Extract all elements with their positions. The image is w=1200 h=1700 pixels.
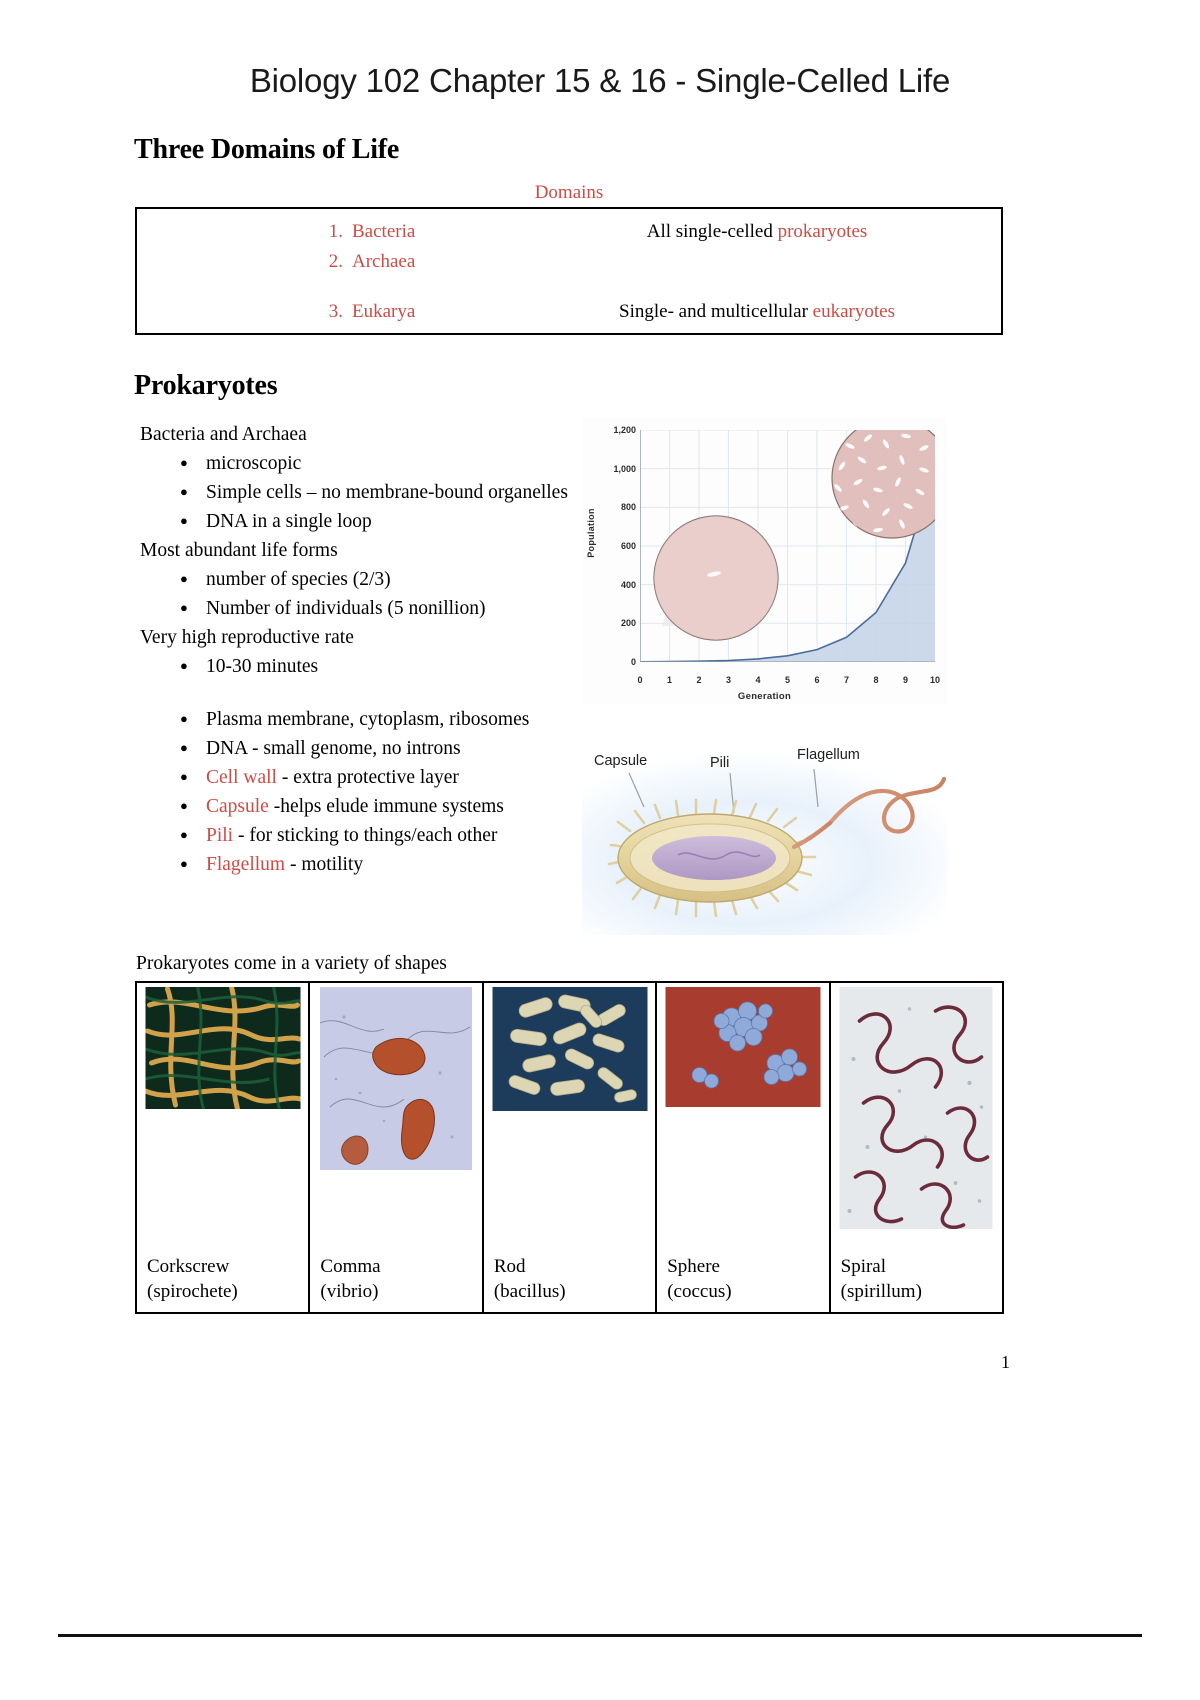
list-item: Number of individuals (5 nonillion) <box>140 594 570 623</box>
chart-x-tick: 3 <box>719 675 739 685</box>
shape-cell-comma: Comma (vibrio) <box>310 983 483 1312</box>
list-item: DNA - small genome, no introns <box>140 734 570 763</box>
chart-y-tick: 200 <box>596 618 636 628</box>
list-item: Pili - for sticking to things/each other <box>140 821 570 850</box>
list-item: microscopic <box>140 449 570 478</box>
domains-table: 1. Bacteria All single-celled prokaryote… <box>135 207 1003 335</box>
notes-subhead: Bacteria and Archaea <box>140 420 570 449</box>
chart-x-axis-label: Generation <box>582 691 947 702</box>
domain-name: Eukarya <box>352 301 415 323</box>
chart-y-ticks: 02004006008001,0001,200 <box>590 418 636 705</box>
domain-number: 1. <box>315 221 343 243</box>
shape-caption-spiral: Spiral (spirillum) <box>841 1254 922 1304</box>
chart-plot-area <box>640 430 935 662</box>
domains-table-caption: Domains <box>134 182 1004 204</box>
chart-y-tick: 1,200 <box>596 425 636 435</box>
chart-inset-high-density <box>832 430 935 538</box>
chart-x-tick: 2 <box>689 675 709 685</box>
chart-x-tick: 1 <box>660 675 680 685</box>
chart-x-tick: 0 <box>630 675 650 685</box>
population-growth-chart: Population 02004006008001,0001,200 <box>582 418 947 705</box>
label-flagellum: Flagellum <box>797 747 860 763</box>
chart-x-tick: 4 <box>748 675 768 685</box>
shape-cell-sphere: Sphere (coccus) <box>657 983 830 1312</box>
domain-name: Archaea <box>352 251 415 273</box>
chart-y-tick: 0 <box>596 657 636 667</box>
shapes-caption: Prokaryotes come in a variety of shapes <box>136 953 447 975</box>
notes-bullet-list: 10-30 minutes <box>140 652 570 681</box>
term-cell-wall: Cell wall <box>206 767 277 788</box>
shape-caption-comma: Comma (vibrio) <box>320 1254 380 1304</box>
micrograph-spirillum <box>840 987 993 1229</box>
chart-y-tick: 600 <box>596 541 636 551</box>
document-page: Biology 102 Chapter 15 & 16 - Single-Cel… <box>0 0 1200 1700</box>
domain-description: Single- and multicellular eukaryotes <box>522 301 992 323</box>
list-item: Plasma membrane, cytoplasm, ribosomes <box>140 705 570 734</box>
chart-x-tick: 9 <box>896 675 916 685</box>
micrograph-spirochete <box>145 987 300 1109</box>
chart-x-tick: 6 <box>807 675 827 685</box>
micrograph-vibrio <box>320 987 472 1170</box>
list-item: Simple cells – no membrane-bound organel… <box>140 478 570 507</box>
domain-name: Bacteria <box>352 221 415 243</box>
label-pili: Pili <box>710 755 729 771</box>
domain-description: All single-celled prokaryotes <box>522 221 992 243</box>
page-title: Biology 102 Chapter 15 & 16 - Single-Cel… <box>0 62 1200 100</box>
shape-caption-sphere: Sphere (coccus) <box>667 1254 731 1304</box>
domain-number: 2. <box>315 251 343 273</box>
shape-cell-corkscrew: Corkscrew (spirochete) <box>137 983 310 1312</box>
chart-y-tick: 800 <box>596 502 636 512</box>
footer-divider <box>58 1634 1142 1637</box>
prokaryotes-notes: Bacteria and Archaea microscopic Simple … <box>140 420 570 879</box>
chart-x-ticks: 012345678910 <box>582 675 947 687</box>
micrograph-coccus <box>665 987 820 1107</box>
list-item: Flagellum - motility <box>140 850 570 879</box>
label-capsule: Capsule <box>594 753 647 769</box>
chart-y-tick: 400 <box>596 580 636 590</box>
chart-x-tick: 5 <box>778 675 798 685</box>
notes-bullet-list: number of species (2/3) Number of indivi… <box>140 565 570 623</box>
bacterium-diagram: Capsule Pili Flagellum <box>582 735 947 935</box>
shape-caption-rod: Rod (bacillus) <box>494 1254 566 1304</box>
micrograph-bacillus <box>492 987 647 1111</box>
list-item: DNA in a single loop <box>140 507 570 536</box>
term-pili: Pili <box>206 825 233 846</box>
notes-bullet-list-structures: Plasma membrane, cytoplasm, ribosomes DN… <box>140 705 570 879</box>
list-item: Cell wall - extra protective layer <box>140 763 570 792</box>
table-row: 1. Bacteria All single-celled prokaryote… <box>137 221 1001 251</box>
list-item: Capsule -helps elude immune systems <box>140 792 570 821</box>
shape-cell-spiral: Spiral (spirillum) <box>831 983 1002 1312</box>
notes-spacer <box>140 681 570 705</box>
term-flagellum: Flagellum <box>206 854 285 875</box>
notes-subhead: Very high reproductive rate <box>140 623 570 652</box>
list-item: number of species (2/3) <box>140 565 570 594</box>
chart-y-tick: 1,000 <box>596 464 636 474</box>
chart-x-tick: 10 <box>925 675 945 685</box>
table-row: 2. Archaea <box>137 251 1001 281</box>
table-row: 3. Eukarya Single- and multicellular euk… <box>137 301 1001 331</box>
notes-subhead: Most abundant life forms <box>140 536 570 565</box>
section-heading-domains: Three Domains of Life <box>134 134 399 166</box>
notes-bullet-list: microscopic Simple cells – no membrane-b… <box>140 449 570 536</box>
cytoplasm-shape <box>652 836 776 880</box>
domain-number: 3. <box>315 301 343 323</box>
shape-cell-rod: Rod (bacillus) <box>484 983 657 1312</box>
chart-x-tick: 7 <box>837 675 857 685</box>
prokaryote-shapes-table: Corkscrew (spirochete) <box>135 981 1004 1314</box>
section-heading-prokaryotes: Prokaryotes <box>134 370 277 402</box>
shape-caption-corkscrew: Corkscrew (spirochete) <box>147 1254 238 1304</box>
list-item: 10-30 minutes <box>140 652 570 681</box>
term-capsule: Capsule <box>206 796 269 817</box>
chart-x-tick: 8 <box>866 675 886 685</box>
chart-inset-low-density <box>654 516 778 640</box>
page-number: 1 <box>1001 1352 1010 1373</box>
chart-svg <box>640 430 935 662</box>
